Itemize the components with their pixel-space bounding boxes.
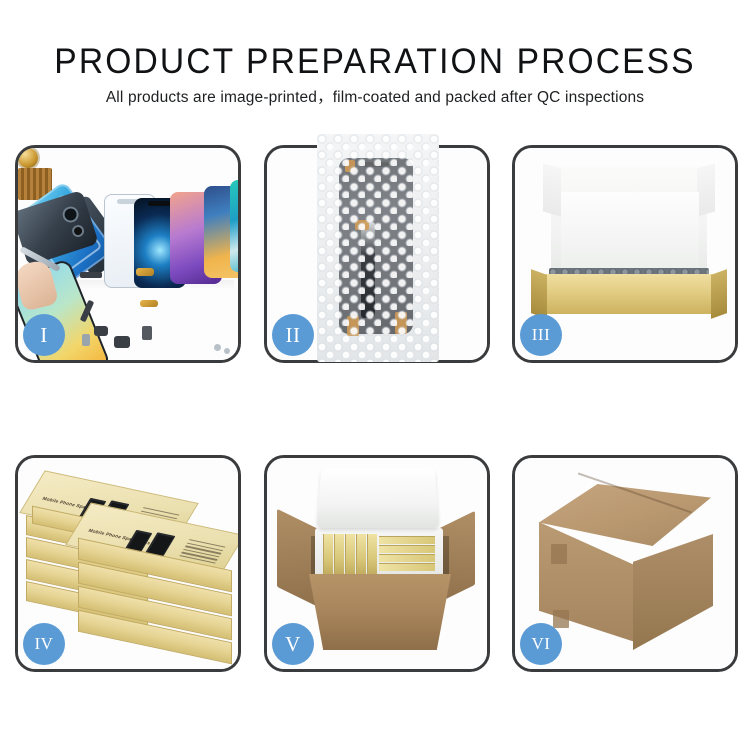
yellow-box-flat — [379, 545, 435, 553]
foam-box-lid-icon — [317, 468, 440, 528]
speaker-icon — [94, 326, 108, 336]
vibrator-icon — [114, 336, 130, 348]
step-badge-3: III — [520, 314, 562, 356]
packing-tape-icon — [553, 610, 569, 628]
yellow-box-flat — [379, 554, 435, 562]
step-badge-6: VI — [520, 623, 562, 665]
step-panel-2[interactable]: II — [264, 145, 490, 363]
step-panel-6[interactable]: VI — [512, 455, 738, 672]
bubble-wrap-bag-icon — [317, 134, 439, 362]
process-step-grid: I II — [0, 0, 750, 750]
chip-icon — [80, 272, 102, 278]
brown-carton-body — [309, 574, 451, 650]
yellow-box — [356, 534, 366, 576]
gold-flex-icon — [140, 300, 158, 307]
sim-tray-icon — [142, 326, 152, 340]
step-panel-1[interactable]: I — [15, 145, 241, 363]
carton-side-face — [633, 534, 713, 650]
step-badge-2: II — [272, 314, 314, 356]
step-panel-4[interactable]: Mobile Phone Spare Parts Mobile Phone Sp… — [15, 455, 241, 672]
step-badge-5: V — [272, 623, 314, 665]
yellow-box — [323, 534, 333, 576]
step-badge-1: I — [23, 314, 65, 356]
screw-icon — [214, 344, 221, 351]
connector-icon — [82, 334, 90, 346]
rear-camera-secondary-icon — [71, 223, 86, 238]
yellow-retail-boxes-group — [323, 534, 435, 576]
step-badge-4: IV — [23, 623, 65, 665]
step-panel-3[interactable]: III — [512, 145, 738, 363]
phone-display-teal-icon — [230, 180, 238, 272]
yellow-box-flat — [379, 536, 435, 544]
yellow-inner-box-icon — [541, 274, 717, 314]
yellow-box-flat — [379, 563, 435, 571]
product-preparation-infographic: PRODUCT PREPARATION PROCESS All products… — [0, 0, 750, 750]
yellow-box — [334, 534, 344, 576]
step-panel-5[interactable]: V — [264, 455, 490, 672]
packing-tape-icon — [551, 544, 567, 564]
camera-lens-icon — [18, 148, 38, 168]
yellow-box — [367, 534, 377, 576]
screw-icon — [224, 348, 230, 354]
foam-sheet-icon — [561, 192, 699, 276]
gold-contact-icon — [136, 268, 154, 276]
yellow-box — [345, 534, 355, 576]
bubble-texture — [317, 134, 439, 362]
rear-camera-icon — [61, 204, 81, 224]
